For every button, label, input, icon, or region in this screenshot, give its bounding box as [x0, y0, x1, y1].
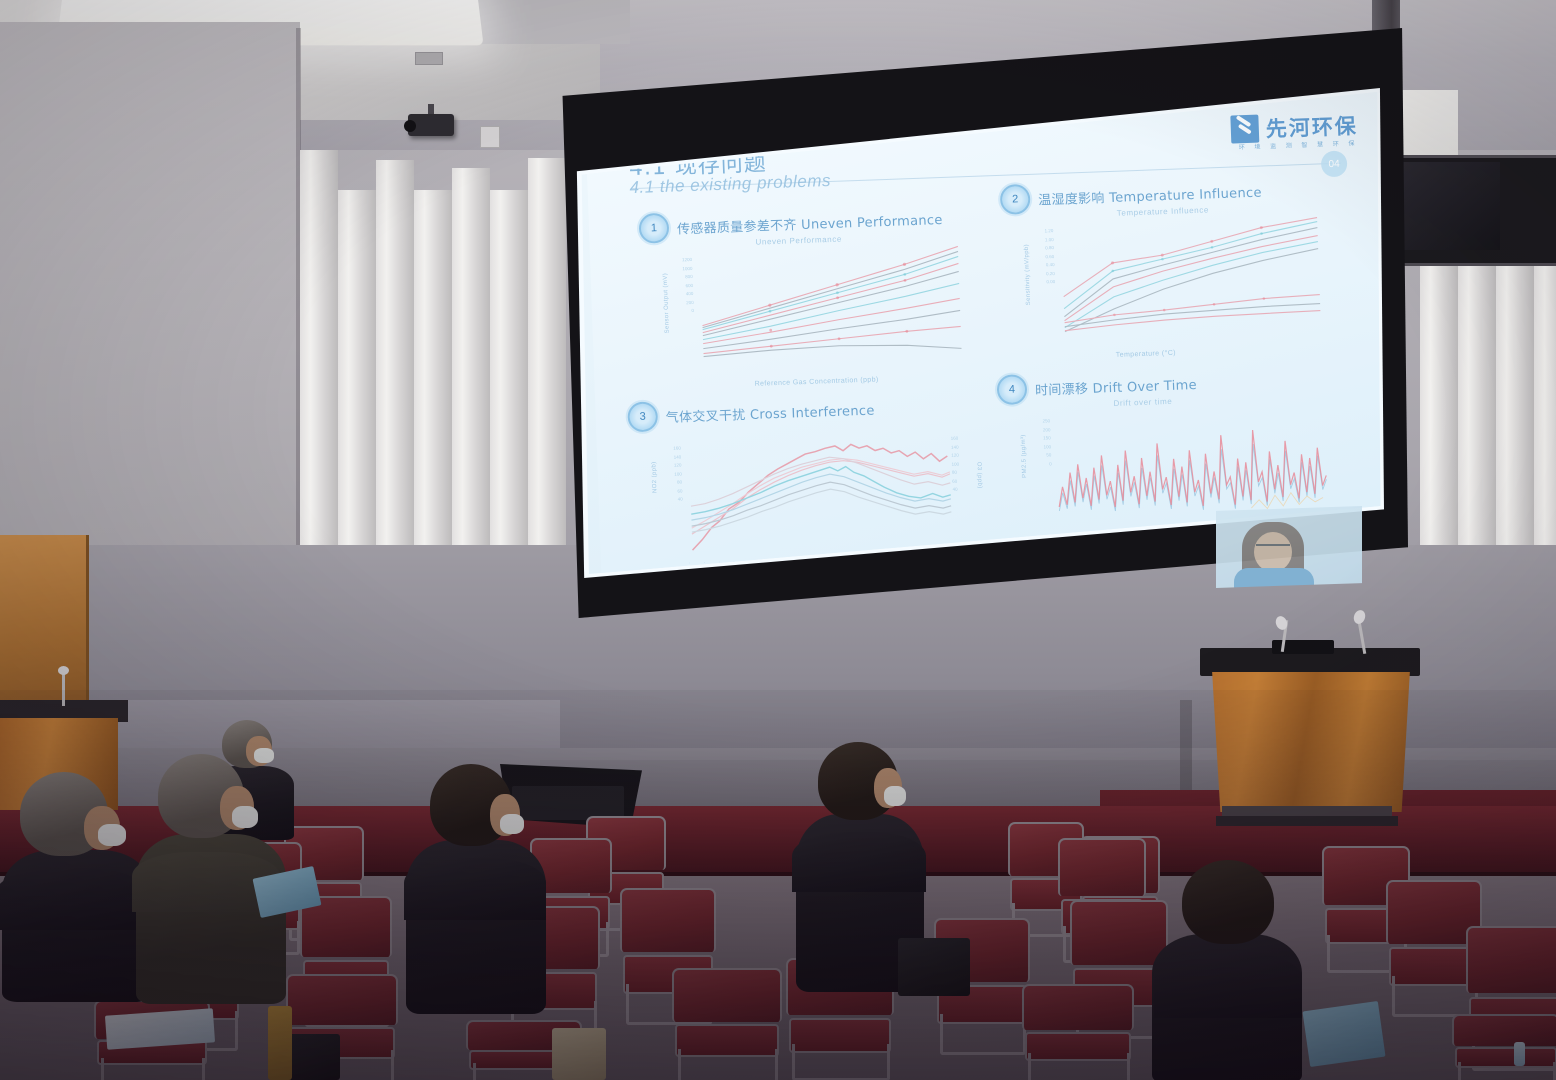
chair[interactable]	[1386, 880, 1478, 1014]
speaker-video-feed	[1216, 506, 1362, 588]
chart-plot-area	[683, 433, 959, 559]
podium-foot	[1216, 816, 1398, 826]
chart-title: Drift over time	[1113, 397, 1172, 408]
microphone-icon	[58, 666, 69, 675]
chart-ylabel: PM2.5 (µg/m³)	[1021, 434, 1029, 478]
quadrant-label-zh: 气体交叉干扰	[666, 408, 746, 426]
chair[interactable]	[1022, 984, 1130, 1080]
chair[interactable]	[672, 968, 778, 1080]
quadrant-label-zh: 温湿度影响	[1038, 191, 1105, 208]
chart-y-ticks: 250200150100500	[1028, 417, 1052, 469]
podium-lectern	[1208, 672, 1414, 812]
quadrant-label-en: Cross Interference	[750, 403, 875, 422]
chart-ylabel: Sensitivity (mV/ppb)	[1024, 244, 1032, 306]
wall-speaker	[480, 126, 500, 148]
microphone-stem	[62, 672, 65, 706]
quadrant-number-badge: 3	[627, 401, 658, 432]
chart-title: Uneven Performance	[755, 235, 842, 247]
logo-mark-icon	[1230, 115, 1259, 144]
chart-temperature-influence: Temperature Influence Sensitivity (mV/pp…	[1027, 205, 1352, 350]
chart-y-ticks: 1.201.000.800.600.400.200.00	[1031, 227, 1055, 288]
chart-plot-area	[694, 244, 974, 366]
briefcase	[898, 938, 970, 996]
audience-member	[1152, 860, 1302, 1080]
water-bottle	[1514, 1042, 1525, 1066]
quadrant-uneven-performance: 1 传感器质量参差不齐 Uneven Performance Uneven Pe…	[638, 200, 1022, 391]
quadrant-label-zh: 传感器质量参差不齐	[677, 218, 797, 237]
quadrant-label-en: Temperature Influence	[1109, 185, 1262, 205]
side-door[interactable]	[0, 535, 89, 710]
quadrant-label: 时间漂移 Drift Over Time	[1035, 373, 1197, 398]
quadrant-number-badge: 2	[1000, 184, 1031, 215]
presentation-slide: 先河环保 环 境 监 测 智 慧 环 保 04 4.1 现存问题 4.1 the…	[576, 90, 1382, 576]
projection-wash	[1216, 506, 1362, 588]
audience-member	[406, 764, 546, 1014]
ceiling-vent	[415, 52, 443, 65]
booth-glass	[1400, 162, 1500, 250]
quadrant-label-en: Drift Over Time	[1092, 377, 1197, 396]
chart-ylabel: Sensor Output (mV)	[663, 273, 671, 334]
chart-uneven-performance: Uneven Performance Sensor Output (mV) Re…	[666, 233, 991, 378]
quadrant-number-badge: 1	[638, 213, 669, 244]
projector-lens-icon	[404, 120, 416, 132]
stage-side-panel	[1180, 700, 1192, 790]
chart-plot-area	[1055, 215, 1335, 337]
quadrant-label: 传感器质量参差不齐 Uneven Performance	[677, 208, 943, 236]
audience-member	[2, 772, 152, 1002]
quadrant-temperature-influence: 2 温湿度影响 Temperature Influence Temperatur…	[1000, 171, 1382, 362]
quadrant-label: 气体交叉干扰 Cross Interference	[665, 399, 874, 425]
umbrella	[268, 1006, 292, 1080]
conference-hall-scene: 先河环保 环 境 监 测 智 慧 环 保 04 4.1 现存问题 4.1 the…	[0, 0, 1556, 1080]
chart-title: Temperature Influence	[1117, 205, 1209, 217]
quadrant-label-en: Uneven Performance	[801, 212, 943, 232]
chart-ylabel-right: O3 (ppb)	[976, 462, 983, 489]
handout-paper	[1302, 1001, 1385, 1067]
quadrant-number-badge: 4	[996, 374, 1027, 405]
chair[interactable]	[1452, 1014, 1556, 1080]
chart-y-ticks: 160140120100806040	[659, 444, 683, 505]
quadrant-label-zh: 时间漂移	[1035, 381, 1089, 398]
chart-ylabel: NO2 (ppb)	[651, 461, 658, 493]
chart-y-ticks: 120010008006004002000	[670, 256, 694, 317]
paper-bag	[552, 1028, 606, 1080]
quadrant-label: 温湿度影响 Temperature Influence	[1038, 181, 1262, 208]
